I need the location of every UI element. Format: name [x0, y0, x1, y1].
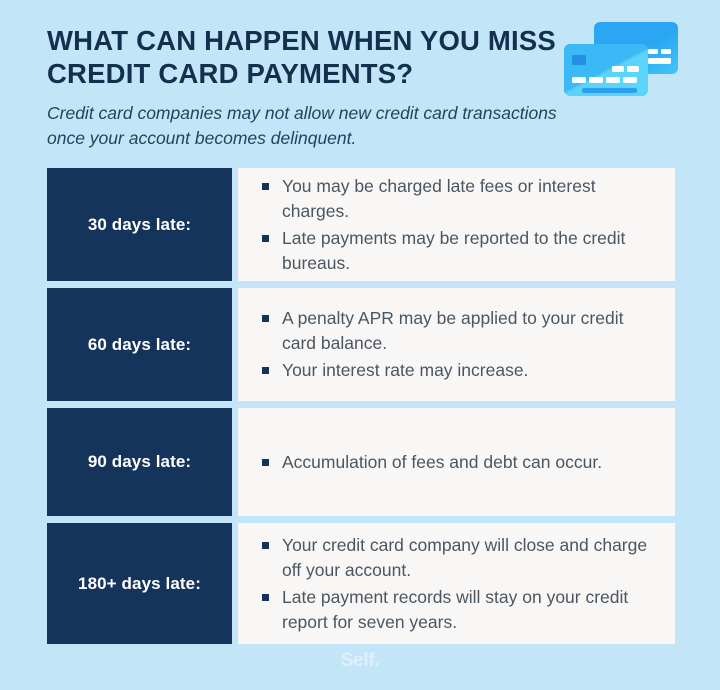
bullet-list: A penalty APR may be applied to your cre…	[260, 306, 657, 383]
list-item: Your interest rate may increase.	[260, 358, 657, 383]
timeline-rows: 30 days late: You may be charged late fe…	[47, 168, 675, 644]
bullet-list: You may be charged late fees or interest…	[260, 174, 657, 276]
brand-logo: Self.	[341, 650, 380, 671]
row-content-cell: A penalty APR may be applied to your cre…	[238, 288, 675, 401]
row-label-cell: 60 days late:	[47, 288, 232, 401]
table-row: 30 days late: You may be charged late fe…	[47, 168, 675, 281]
list-item: A penalty APR may be applied to your cre…	[260, 306, 657, 356]
footer: Self.	[0, 650, 720, 672]
row-label-text: 60 days late:	[88, 334, 191, 356]
row-label-text: 30 days late:	[88, 214, 191, 236]
infographic-canvas: WHAT CAN HAPPEN WHEN YOU MISS CREDIT CAR…	[0, 0, 720, 690]
row-label-cell: 30 days late:	[47, 168, 232, 281]
page-subtitle: Credit card companies may not allow new …	[47, 101, 587, 151]
row-label-cell: 90 days late:	[47, 408, 232, 516]
list-item: You may be charged late fees or interest…	[260, 174, 657, 224]
table-row: 60 days late: A penalty APR may be appli…	[47, 288, 675, 401]
row-content-cell: Accumulation of fees and debt can occur.	[238, 408, 675, 516]
bullet-list: Accumulation of fees and debt can occur.	[260, 450, 657, 475]
list-item: Late payments may be reported to the cre…	[260, 226, 657, 276]
row-label-text: 90 days late:	[88, 451, 191, 473]
list-item: Late payment records will stay on your c…	[260, 585, 657, 635]
list-item: Accumulation of fees and debt can occur.	[260, 450, 657, 475]
list-item: Your credit card company will close and …	[260, 533, 657, 583]
row-content-cell: You may be charged late fees or interest…	[238, 168, 675, 281]
page-title: WHAT CAN HAPPEN WHEN YOU MISS CREDIT CAR…	[47, 24, 557, 90]
row-content-cell: Your credit card company will close and …	[238, 523, 675, 644]
credit-cards-icon	[564, 20, 680, 100]
bullet-list: Your credit card company will close and …	[260, 533, 657, 635]
row-label-cell: 180+ days late:	[47, 523, 232, 644]
table-row: 180+ days late: Your credit card company…	[47, 523, 675, 644]
table-row: 90 days late: Accumulation of fees and d…	[47, 408, 675, 516]
row-label-text: 180+ days late:	[78, 573, 201, 595]
